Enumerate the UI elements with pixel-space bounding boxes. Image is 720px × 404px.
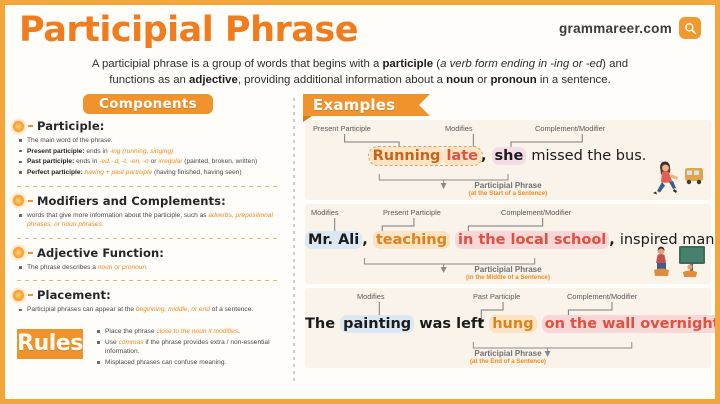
component-block-participle: Participle: The main word of the phrase.… — [11, 114, 285, 182]
page-title: Participial Phrase — [19, 7, 358, 53]
intro-line2: functions as an adjective, providing add… — [109, 74, 611, 86]
brand-label: grammareer.com — [559, 21, 672, 36]
infographic-frame: Participial Phrase grammareer.com A part… — [0, 0, 720, 404]
list-item: Participial phrases can appear at the be… — [27, 305, 281, 314]
block-heading: Participle: — [13, 119, 283, 133]
label-modifies: Modifies — [311, 208, 339, 217]
sun-icon — [13, 290, 24, 301]
participial-phrase-span: Runninglate — [370, 148, 481, 164]
block-heading: Adjective Function: — [13, 246, 283, 260]
example-labels: Modifies Past Participle Complement/Modi… — [305, 288, 711, 314]
bullet-list: Participial phrases can appear at the be… — [13, 305, 283, 314]
search-button[interactable] — [679, 17, 701, 39]
divider — [17, 238, 279, 239]
bullet-list: The main word of the phrase. Present par… — [13, 136, 283, 177]
list-item: Misplaced phrases can confuse meaning. — [105, 358, 281, 367]
intro-paragraph: A participial phrase is a group of words… — [5, 57, 715, 88]
label-present-participle: Present Participle — [383, 208, 441, 217]
list-item: Place the phrase close to the noun it mo… — [105, 327, 281, 336]
label-modifies: Modifies — [445, 124, 473, 133]
running-woman-bus-illustration — [649, 158, 707, 196]
dash-icon — [28, 200, 33, 202]
components-column: Components Participle: The main word of … — [5, 94, 293, 384]
examples-heading: Examples — [303, 94, 419, 116]
modified-noun: painting — [340, 315, 414, 333]
block-heading: Placement: — [13, 288, 283, 302]
header: Participial Phrase grammareer.com — [5, 5, 715, 57]
participle-word: hung — [489, 315, 536, 333]
list-item: The phrase describes a noun or pronoun. — [27, 263, 281, 272]
component-block-adjective-function: Adjective Function: The phrase describes… — [11, 241, 285, 277]
label-complement-modifier: Complement/Modifier — [567, 292, 637, 301]
sun-icon — [13, 195, 24, 206]
example-caption: Participial Phrase (at the End of a Sent… — [305, 350, 711, 366]
bullet-list: words that give more information about t… — [13, 211, 283, 229]
components-heading: Components — [83, 94, 213, 114]
label-present-participle: Present Participle — [313, 124, 371, 133]
component-block-modifiers: Modifiers and Complements: words that gi… — [11, 189, 285, 234]
dash-icon — [28, 125, 33, 127]
example-sentence: The painting was left hung on the wall o… — [305, 316, 711, 332]
examples-column: Examples Present Participle Modifies — [295, 94, 715, 384]
intro-line1: A participial phrase is a group of words… — [92, 58, 628, 70]
label-complement-modifier: Complement/Modifier — [501, 208, 571, 217]
divider — [17, 280, 279, 281]
modified-noun: she — [492, 147, 527, 165]
modified-noun: Mr. Ali — [305, 231, 362, 249]
sun-icon — [13, 247, 24, 258]
rules-section: Rules Place the phrase close to the noun… — [11, 325, 285, 365]
participle-word: teaching — [373, 231, 450, 249]
example-labels: Modifies Present Participle Complement/M… — [305, 204, 711, 230]
block-heading: Modifiers and Complements: — [13, 194, 283, 208]
example-labels: Present Participle Modifies Complement/M… — [305, 120, 711, 146]
label-modifies: Modifies — [357, 292, 385, 301]
complement-span: in the local school — [455, 231, 609, 249]
example-2: Modifies Present Participle Complement/M… — [305, 204, 711, 284]
dash-icon — [28, 252, 33, 254]
list-item: Use commas if the phrase provides extra … — [105, 338, 281, 356]
body: Components Participle: The main word of … — [5, 88, 715, 384]
dash-icon — [28, 294, 33, 296]
teacher-classroom-illustration — [649, 242, 707, 280]
example-1: Present Participle Modifies Complement/M… — [305, 120, 711, 200]
component-block-placement: Placement: Participial phrases can appea… — [11, 283, 285, 319]
divider — [17, 186, 279, 187]
bullet-list: The phrase describes a noun or pronoun. — [13, 263, 283, 272]
list-item: Past participle: ends in -ed, -d, -t, -e… — [27, 157, 281, 166]
sun-icon — [13, 121, 24, 132]
label-past-participle: Past Participle — [473, 292, 520, 301]
list-item: The main word of the phrase. — [27, 136, 281, 145]
brand: grammareer.com — [559, 17, 701, 39]
label-complement-modifier: Complement/Modifier — [535, 124, 605, 133]
list-item: Present participle: ends in -ing (runnin… — [27, 147, 281, 156]
list-item: words that give more information about t… — [27, 211, 281, 229]
rules-label: Rules — [17, 329, 83, 359]
search-icon — [684, 22, 697, 35]
list-item: Perfect participle: having + past partic… — [27, 168, 281, 177]
complement-span: on the wall overnight. — [542, 315, 720, 333]
example-3: Modifies Past Participle Complement/Modi… — [305, 288, 711, 368]
rules-list: Place the phrase close to the noun it mo… — [91, 327, 283, 368]
